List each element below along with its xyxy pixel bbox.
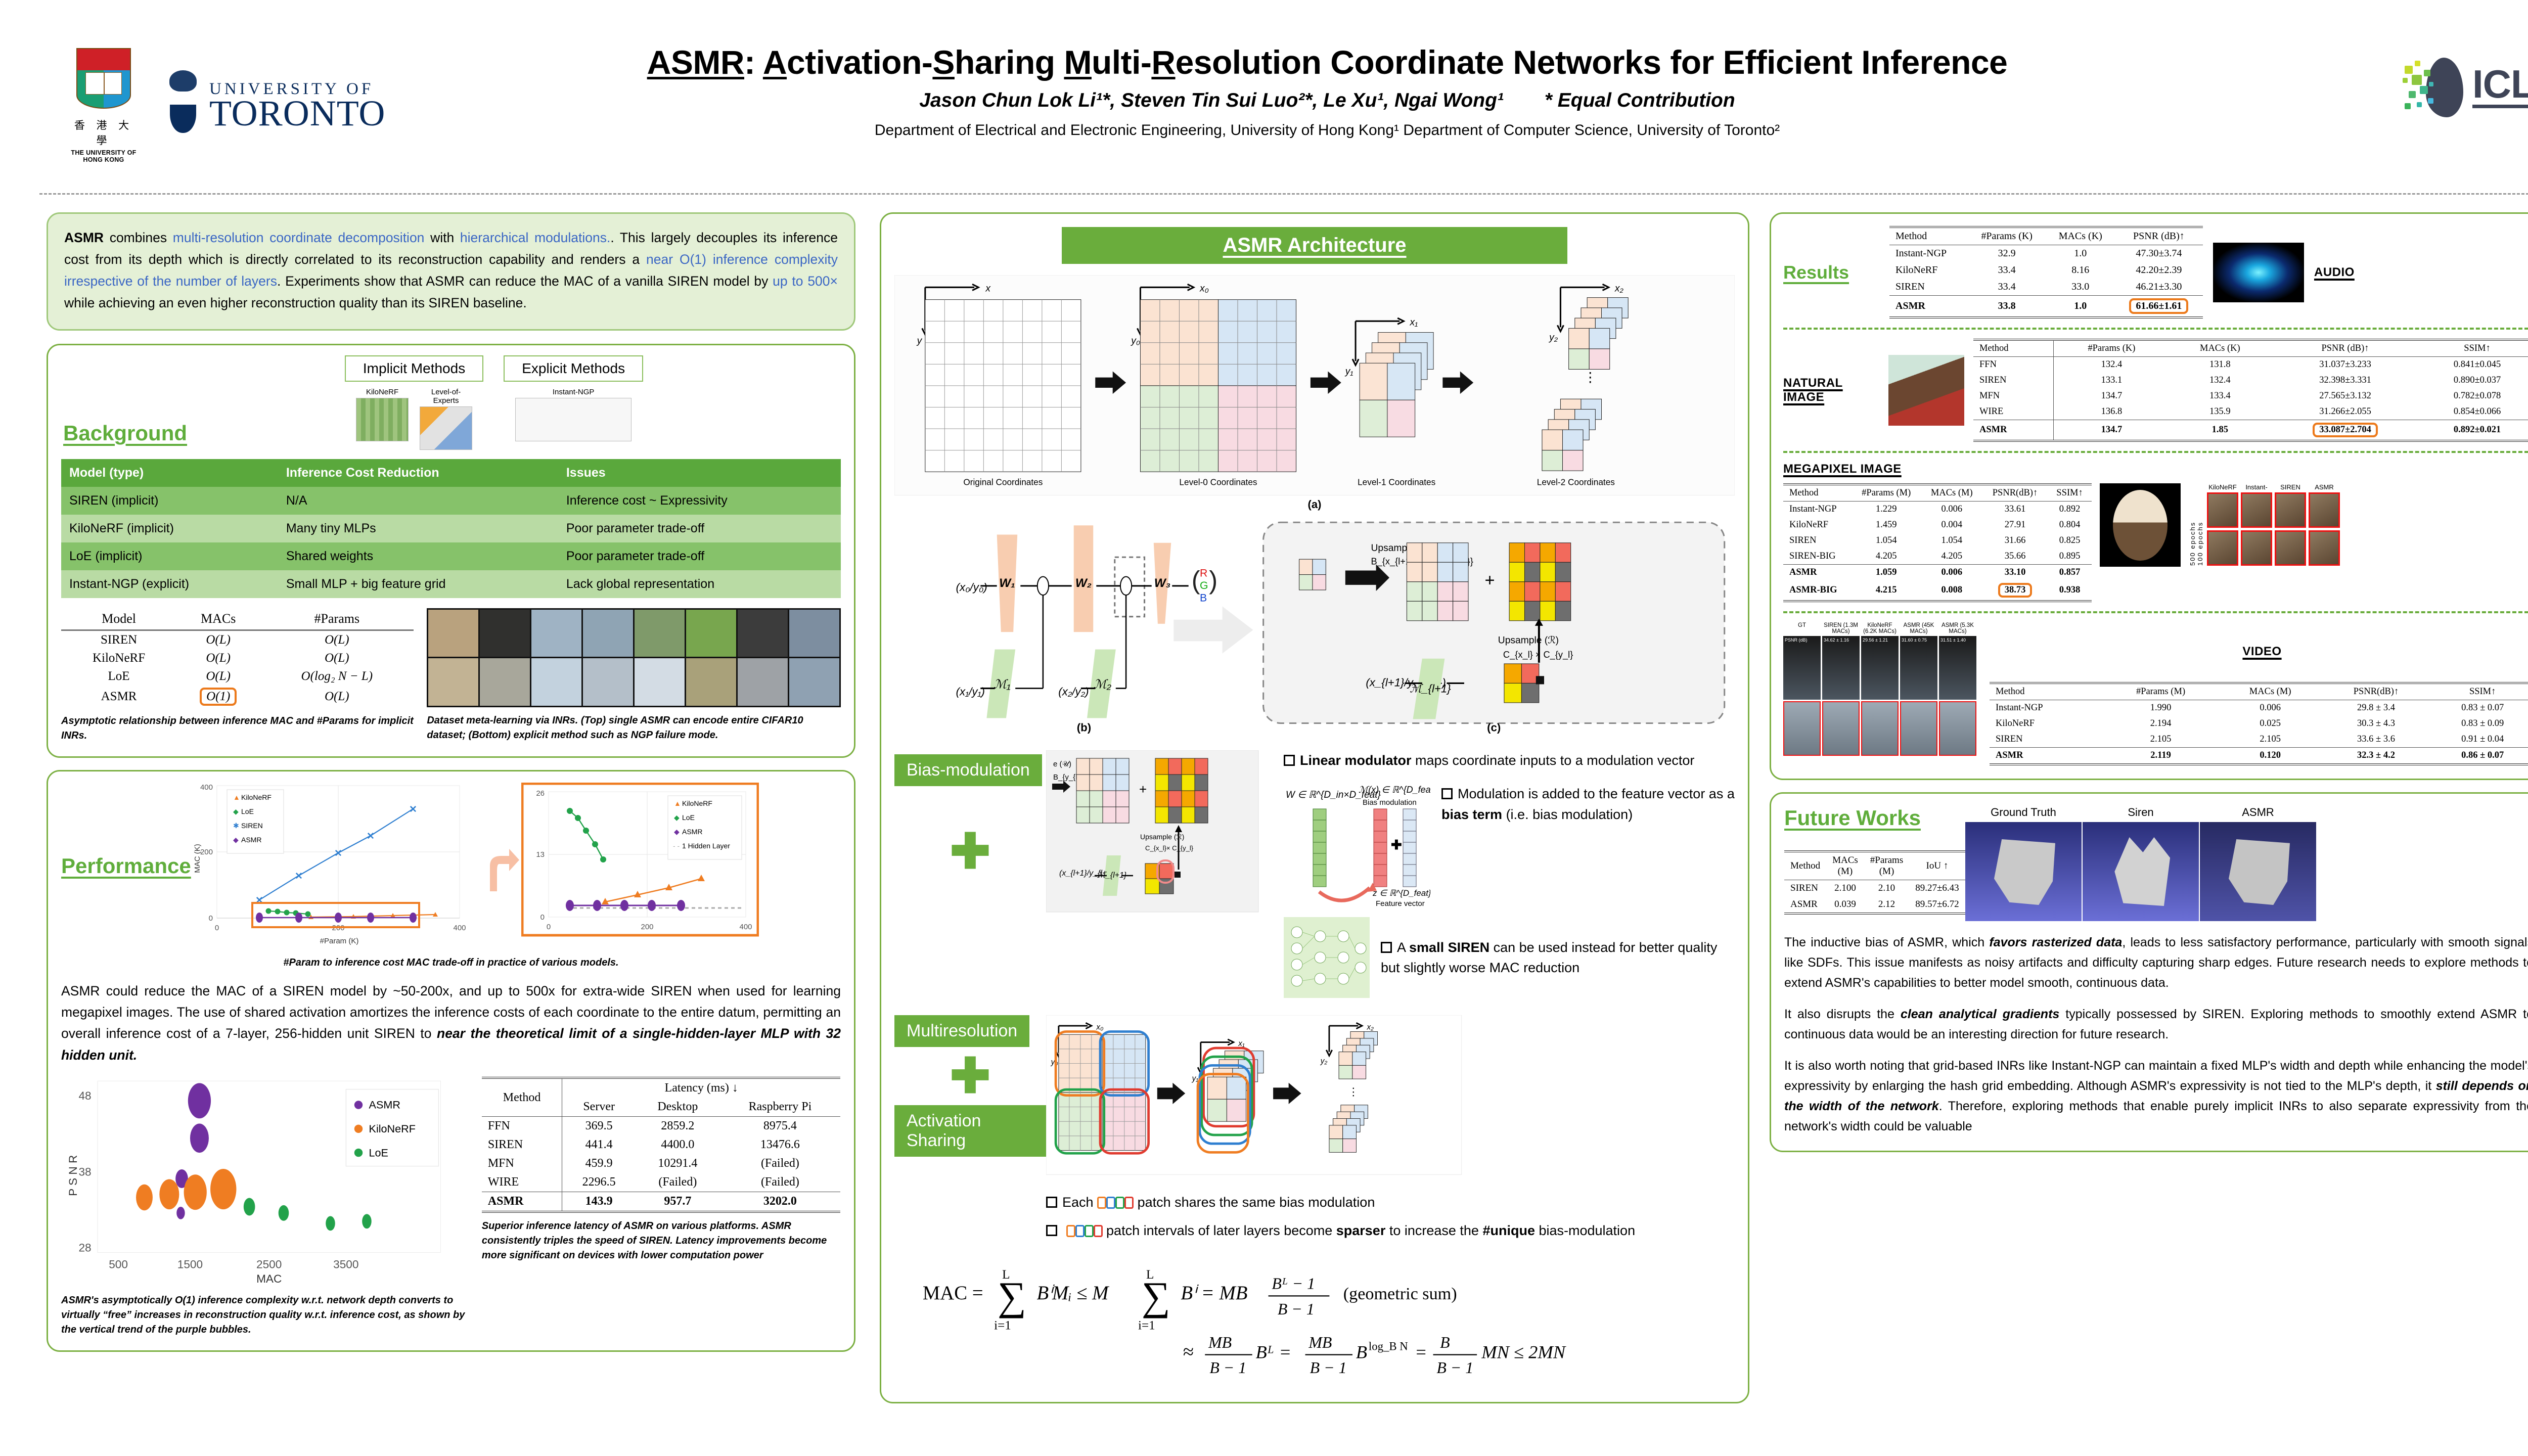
video-zoom-frame <box>1822 701 1860 756</box>
label-bias-modulation: Bias modulation <box>1363 798 1417 807</box>
cell: 10291.4 <box>636 1154 720 1173</box>
cell: 13476.6 <box>720 1135 840 1154</box>
label-z: z ∈ ℝ^{D_feat} <box>1372 888 1430 898</box>
feature-vector-diagram: W ∈ ℝ^{D_in×D_feat} ℳ(x) ∈ ℝ^{D_feat} Bi… <box>1284 784 1430 910</box>
cell: 0.83 ± 0.09 <box>2430 716 2528 732</box>
table-row: SIREN O(L) O(L) <box>61 630 414 649</box>
video-frame: 31.60 ± 0.75 <box>1900 636 1937 700</box>
cell: (Failed) <box>720 1173 840 1192</box>
label-siren: Siren <box>2083 806 2199 819</box>
cell: 0.895 <box>2048 549 2092 565</box>
cell: 1.459 <box>1852 517 1921 533</box>
megapixel-results-row: Method #Params (M) MACs (M) PSNR(dB)↑ SS… <box>1783 483 2528 602</box>
bullet-small-siren: A small SIREN can be used instead for be… <box>1381 937 1735 978</box>
svg-text:y₀: y₀ <box>1051 1058 1059 1066</box>
cell: 0.83 ± 0.07 <box>2430 700 2528 716</box>
svg-text:x₁: x₁ <box>1409 317 1418 328</box>
svg-text:◆: ◆ <box>233 807 239 815</box>
svg-text:LoE: LoE <box>682 813 695 822</box>
cell: 133.4 <box>2170 388 2271 404</box>
mac-equation-svg: MAC = ∑ L i=1 BⁱMᵢ ≤ M ∑ L i=1 Bⁱ = MB B… <box>911 1261 1718 1382</box>
cell: 0.006 <box>2219 700 2322 716</box>
multiresolution-tag: Multiresolution <box>894 1015 1029 1047</box>
cell: Small MLP + big feature grid <box>278 570 558 598</box>
video-label: VIDEO <box>1990 645 2528 659</box>
cell: WIRE <box>482 1173 562 1192</box>
bullet3-bold: small SIREN <box>1409 940 1489 955</box>
cell: 1.85 <box>2170 420 2271 441</box>
col-iou: IoU ↑ <box>1909 851 1965 880</box>
cell: KiloNeRF <box>1889 262 1968 279</box>
bias-modulation-bullets: Linear modulator maps coordinate inputs … <box>1269 750 1735 998</box>
table-row: Instant-NGP 1.229 0.006 33.61 0.892 <box>1783 502 2092 518</box>
svg-text:⋮: ⋮ <box>1348 1086 1359 1098</box>
col-label-instant: Instant- <box>2241 483 2272 491</box>
svg-text:200: 200 <box>200 848 213 856</box>
cifar-grid-image <box>427 608 841 707</box>
col-label-kilonerf: KiloNeRF <box>2207 483 2238 491</box>
table-row: WIRE 2296.5 (Failed) (Failed) <box>482 1173 840 1192</box>
svg-text:#Param (K): #Param (K) <box>320 937 359 945</box>
cell: Lack global representation <box>558 570 841 598</box>
label-original-coordinates: Original Coordinates <box>963 477 1043 487</box>
pluto-image <box>2100 483 2181 567</box>
highlighted-value: 61.66±1.61 <box>2129 298 2188 314</box>
cell: 4400.0 <box>636 1135 720 1154</box>
chart-legend: ASMR KiloNeRF LoE <box>346 1089 438 1166</box>
iclr-face-icon <box>2402 55 2463 118</box>
fw-p2-bold: clean analytical gradients <box>1901 1007 2059 1021</box>
thumb-kilonerf-image <box>356 398 409 441</box>
cell: N/A <box>278 487 558 515</box>
svg-text:ℳ₁: ℳ₁ <box>994 677 1011 691</box>
svg-text:- -: - - <box>673 842 680 850</box>
svg-text:W₁: W₁ <box>999 576 1015 590</box>
col-latency-group: Latency (ms) ↓ <box>562 1078 840 1098</box>
cell: LoE (implicit) <box>61 542 278 570</box>
table-row: Instant-NGP 32.9 1.0 47.30±3.74 <box>1889 245 2203 262</box>
svg-text:0: 0 <box>547 923 551 931</box>
asymptotic-caption: Asymptotic relationship between inferenc… <box>61 714 414 743</box>
cell: 1.0 <box>2046 245 2115 262</box>
cell: 133.1 <box>2054 373 2170 388</box>
poster-root: 香 港 大 學 THE UNIVERSITY OF HONG KONG UNIV… <box>0 0 2528 1456</box>
cell: 4.205 <box>1921 549 1982 565</box>
svg-text:y₁: y₁ <box>1192 1074 1199 1083</box>
svg-text:B: B <box>1200 591 1207 604</box>
col-method: Method <box>1784 851 1826 880</box>
cell: FFN <box>1973 357 2054 373</box>
background-figures: Model MACs #Params SIREN O(L) O(L) Ki <box>61 608 841 743</box>
table-header-row: Method Latency (ms) ↓ <box>482 1078 840 1098</box>
thumb-loe-label: Level-of-Experts <box>420 388 472 405</box>
thumb-ngp-image <box>515 398 631 441</box>
bullet-sparser-post: bias-modulation <box>1535 1223 1635 1238</box>
label-M: ℳ(x) ∈ ℝ^{D_feat} <box>1359 785 1430 795</box>
cell: 8.16 <box>2046 262 2115 279</box>
table-row: WIRE 136.8 135.9 31.266±2.055 0.854±0.06… <box>1973 404 2528 420</box>
svg-text:x₀: x₀ <box>1199 283 1209 294</box>
col-params: #Params <box>260 608 414 630</box>
cell: ASMR <box>1889 296 1968 318</box>
architecture-banner: ASMR Architecture <box>1062 227 1567 264</box>
implicit-methods-group: Implicit Methods KiloNeRF Level-of-Exper… <box>345 355 483 450</box>
table-row-highlight: ASMR 143.9 957.7 3202.0 <box>482 1192 840 1212</box>
svg-text:◆: ◆ <box>674 813 680 822</box>
cell: Inference cost ~ Expressivity <box>558 487 841 515</box>
cell: SIREN-BIG <box>1783 549 1852 565</box>
cell: 31.66 <box>1982 533 2048 549</box>
checkbox-icon <box>1284 755 1295 766</box>
iclr-wordmark: ICLR <box>2472 65 2528 108</box>
zoom-arrow-icon <box>486 836 521 896</box>
cell: SIREN <box>1889 279 1968 296</box>
checkbox-icon <box>1381 942 1392 953</box>
title-block: ASMR: Activation-Sharing Multi-Resolutio… <box>435 44 2220 139</box>
cell: SIREN <box>1990 732 2102 748</box>
table-row: SIREN-BIG 4.205 4.205 35.66 0.895 <box>1783 549 2092 565</box>
cell: 33.0 <box>2046 279 2115 296</box>
highlighted-value: 33.087±2.704 <box>2313 423 2378 437</box>
table-row: SIREN (implicit) N/A Inference cost ~ Ex… <box>61 487 841 515</box>
cell: 27.91 <box>1982 517 2048 533</box>
row-label-500: 500 epochs <box>2189 483 2196 566</box>
svg-text:◆: ◆ <box>674 828 680 836</box>
coordinate-decomposition-diagram: x y Orig <box>894 275 1735 495</box>
cell-highlighted: 38.73 <box>1982 580 2048 601</box>
row-label-100: 100 epochs <box>2196 483 2204 566</box>
abstract-t4: with <box>424 230 460 245</box>
future-works-table: Method MACs (M) #Params (M) IoU ↑ SIREN … <box>1784 850 1965 915</box>
cell: ASMR-BIG <box>1783 580 1852 601</box>
audio-waveform-image <box>2213 243 2304 302</box>
svg-text:B − 1: B − 1 <box>1278 1300 1315 1318</box>
svg-text:500: 500 <box>109 1258 128 1271</box>
cell: (Failed) <box>636 1173 720 1192</box>
cell: 31.037±3.233 <box>2271 357 2420 373</box>
svg-text:28: 28 <box>78 1242 91 1254</box>
svg-text:y₂: y₂ <box>1548 333 1558 343</box>
svg-text:✕: ✕ <box>255 895 263 906</box>
cell: 2859.2 <box>636 1117 720 1136</box>
asymptotic-table: Model MACs #Params SIREN O(L) O(L) Ki <box>61 608 414 708</box>
label-level2-coordinates: Level-2 Coordinates <box>1537 477 1615 487</box>
plus-icon-2: ✚ <box>894 1059 1046 1093</box>
bullet-patch-shares: Each patch shares the same bias modulati… <box>1046 1192 1735 1213</box>
svg-text:0: 0 <box>209 914 213 923</box>
svg-text:48: 48 <box>78 1089 91 1102</box>
abstract-hl1: multi-resolution coordinate decompositio… <box>173 230 425 245</box>
cell: 957.7 <box>636 1192 720 1212</box>
megapixel-comparison-grid: 500 epochs 100 epochs KiloNeRF Instant- … <box>2189 483 2355 566</box>
performance-body: ASMR could reduce the MAC of a SIREN mod… <box>61 980 841 1066</box>
cell: ASMR <box>482 1192 562 1212</box>
cell-highlighted: 33.087±2.704 <box>2271 420 2420 441</box>
cell: 33.4 <box>1968 279 2046 296</box>
table-row: FFN 132.4 131.8 31.037±3.233 0.841±0.045 <box>1973 357 2528 373</box>
bullet-unique-bold: #unique <box>1482 1223 1535 1238</box>
hku-english-name: THE UNIVERSITY OF HONG KONG <box>66 149 142 163</box>
svg-text:x₀: x₀ <box>1096 1023 1104 1032</box>
table-row: Instant-NGP 1.990 0.006 29.8 ± 3.4 0.83 … <box>1990 700 2528 716</box>
cell: 33.4 <box>1968 262 2046 279</box>
poster-header: 香 港 大 學 THE UNIVERSITY OF HONG KONG UNIV… <box>0 0 2528 202</box>
bullet2-bold: bias term <box>1441 807 1502 822</box>
cell: 0.825 <box>2048 533 2092 549</box>
multiresolution-block: Multiresolution ✚ Activation Sharing x₀ … <box>894 1015 1735 1249</box>
cell: 136.8 <box>2054 404 2170 420</box>
col-model: Model <box>61 608 176 630</box>
bullet2-pre: Modulation is added to the feature vecto… <box>1458 786 1735 801</box>
thumb-loe-image <box>420 406 472 450</box>
table-row: KiloNeRF O(L) O(L) <box>61 649 414 667</box>
future-works-paragraph-3: It is also worth noting that grid-based … <box>1784 1056 2528 1136</box>
table-row-highlight: ASMR-BIG 4.215 0.008 38.73 0.938 <box>1783 580 2092 601</box>
cell: 131.8 <box>2170 357 2271 373</box>
svg-text:ASMR: ASMR <box>369 1099 400 1111</box>
natural-image-table: Method #Params (K) MACs (K) PSNR (dB)↑ S… <box>1973 339 2528 442</box>
svg-text:B: B <box>1440 1334 1450 1351</box>
table-row-highlight: ASMR 33.8 1.0 61.66±1.61 <box>1889 296 2203 318</box>
table-row-highlight: ASMR 134.7 1.85 33.087±2.704 0.892±0.021 <box>1973 420 2528 441</box>
col-psnr: PSNR (dB)↑ <box>2115 227 2203 245</box>
cell: 1.054 <box>1852 533 1921 549</box>
svg-text:ASMR: ASMR <box>682 828 702 836</box>
table-row: SIREN 1.054 1.054 31.66 0.825 <box>1783 533 2092 549</box>
svg-text:MAC (K): MAC (K) <box>193 844 202 873</box>
svg-text:0: 0 <box>215 924 219 932</box>
highlighted-value: 38.73 <box>1998 583 2033 598</box>
cell: 135.9 <box>2170 404 2271 420</box>
col-method: Method <box>482 1078 562 1117</box>
cell: 0.004 <box>1921 517 1982 533</box>
cell: 143.9 <box>562 1192 636 1212</box>
col-params: #Params (M) <box>1852 484 1921 502</box>
cell: 30.3 ± 4.3 <box>2322 716 2431 732</box>
table-row: KiloNeRF 33.4 8.16 42.20±2.39 <box>1889 262 2203 279</box>
background-card: Implicit Methods KiloNeRF Level-of-Exper… <box>47 344 855 758</box>
table-row: MFN 134.7 133.4 27.565±3.132 0.782±0.078 <box>1973 388 2528 404</box>
abstract-t2: combines <box>104 230 173 245</box>
svg-text:W₂: W₂ <box>1075 576 1092 590</box>
cell: Poor parameter trade-off <box>558 542 841 570</box>
col-macs: MACs (M) <box>1826 851 1864 880</box>
sdf-image-asmr <box>2200 822 2316 921</box>
checkbox-icon <box>1046 1197 1057 1208</box>
cell: ASMR <box>1783 565 1852 581</box>
architecture-card: ASMR Architecture x y <box>880 212 1749 1403</box>
table-row: SIREN 133.1 132.4 32.398±3.331 0.890±0.0… <box>1973 373 2528 388</box>
latency-caption-p1: Superior inference latency of ASMR on va… <box>482 1220 791 1232</box>
cell: 0.857 <box>2048 565 2092 581</box>
table-header-row: Model MACs #Params <box>61 608 414 630</box>
col-macs: MACs <box>176 608 260 630</box>
background-heading-wrap: Background <box>63 421 187 445</box>
future-works-paragraph-1: The inductive bias of ASMR, which favors… <box>1784 932 2528 993</box>
cell: O(L) <box>260 686 414 708</box>
label-level1-coordinates: Level-1 Coordinates <box>1358 477 1435 487</box>
video-table: Method #Params (M) MACs (M) PSNR(dB)↑ SS… <box>1990 682 2528 765</box>
col-macs: MACs (K) <box>2046 227 2115 245</box>
svg-text:LoE: LoE <box>369 1147 388 1159</box>
strip-label-asmr53k: ASMR (5.3K MACs) <box>1939 622 1976 634</box>
future-works-top-row: Future Works Method MACs (M) #Params (M)… <box>1784 806 2528 921</box>
cell: 32.398±3.331 <box>2271 373 2420 388</box>
video-zoom-frame <box>1900 701 1937 756</box>
mac-equation: MAC = ∑ L i=1 BⁱMᵢ ≤ M ∑ L i=1 Bⁱ = MB B… <box>894 1261 1735 1387</box>
activation-sharing-diagram: x₀ y₀ <box>1046 1015 1481 1179</box>
cell: O(L) <box>176 667 260 686</box>
background-comparison-table: Model (type) Inference Cost Reduction Is… <box>61 459 841 598</box>
label-e-u: e (𝒰) <box>1053 760 1071 768</box>
svg-text:B − 1: B − 1 <box>1210 1359 1247 1377</box>
col-params: #Params (K) <box>1968 227 2046 245</box>
hku-shield-icon <box>76 48 131 114</box>
svg-text:✚: ✚ <box>1391 837 1402 852</box>
bullet-bias-term: Modulation is added to the feature vecto… <box>1441 784 1735 825</box>
table-header-row: Method MACs (M) #Params (M) IoU ↑ <box>1784 851 1965 880</box>
cell: 27.565±3.132 <box>2271 388 2420 404</box>
cell: 0.890±0.037 <box>2420 373 2528 388</box>
asymptotic-table-wrap: Model MACs #Params SIREN O(L) O(L) Ki <box>61 608 414 743</box>
svg-text:26: 26 <box>536 789 545 798</box>
video-zoom-frame <box>1939 701 1976 756</box>
svg-text:Bⁱ = MB: Bⁱ = MB <box>1181 1282 1248 1304</box>
abstract-lead: ASMR <box>64 230 104 245</box>
cell: 32.3 ± 4.2 <box>2322 748 2431 765</box>
panel-a-label: (a) <box>894 498 1735 511</box>
svg-text:y₀: y₀ <box>1130 336 1140 346</box>
bullet-sparser-mid: to increase the <box>1385 1223 1482 1238</box>
bullet-patch-sparser: patch intervals of later layers become s… <box>1046 1220 1735 1241</box>
table-row: LoE (implicit) Shared weights Poor param… <box>61 542 841 570</box>
cell: FFN <box>482 1117 562 1136</box>
affiliations: Department of Electrical and Electronic … <box>435 122 2220 139</box>
svg-text:SIREN: SIREN <box>241 822 263 830</box>
col-psnr: PSNR (dB)↑ <box>2271 340 2420 357</box>
video-frame: PSNR (dB) <box>1783 636 1821 700</box>
table-row: KiloNeRF 2.194 0.025 30.3 ± 4.3 0.83 ± 0… <box>1990 716 2528 732</box>
performance-top-row: Performance 400 200 0 0 200 400 #Param (… <box>61 783 841 949</box>
latency-table: Method Latency (ms) ↓ Server Desktop Ras… <box>482 1077 840 1213</box>
cell: 1.990 <box>2102 700 2219 716</box>
table-row: ASMR 1.059 0.006 33.10 0.857 <box>1783 565 2092 581</box>
cell: SIREN <box>482 1135 562 1154</box>
cell: 0.938 <box>2048 580 2092 601</box>
fw-p1-a: The inductive bias of ASMR, which <box>1784 935 1989 949</box>
video-frame: 29.56 ± 1.21 <box>1861 636 1899 700</box>
col-macs: MACs (M) <box>2219 683 2322 700</box>
col-desktop: Desktop <box>636 1098 720 1117</box>
audio-results-row: Results Method #Params (K) MACs (K) PSNR… <box>1783 226 2528 318</box>
cell: ASMR <box>1784 896 1826 914</box>
performance-card: Performance 400 200 0 0 200 400 #Param (… <box>47 770 855 1352</box>
sdf-image-gt <box>1965 822 2082 921</box>
svg-text:MB: MB <box>1208 1334 1232 1351</box>
col-psnr: PSNR(dB)↑ <box>2322 683 2431 700</box>
latency-caption: Superior inference latency of ASMR on va… <box>482 1219 840 1263</box>
cell: 0.892±0.021 <box>2420 420 2528 441</box>
svg-text:ASMR: ASMR <box>241 836 261 844</box>
table-row: SIREN 2.100 2.10 89.27±6.43 <box>1784 880 1965 897</box>
svg-text:38: 38 <box>78 1166 91 1178</box>
cell: O(L) <box>260 630 414 649</box>
svg-text:✕: ✕ <box>409 804 417 815</box>
cell: 0.91 ± 0.04 <box>2430 732 2528 748</box>
abstract-hl2: hierarchical modulations. <box>460 230 610 245</box>
panel-c-label: (c) <box>1487 721 1501 734</box>
video-frame: 34.62 ± 1.16 <box>1822 636 1860 700</box>
explicit-methods-label: Explicit Methods <box>504 355 643 382</box>
cell: 29.8 ± 3.4 <box>2322 700 2431 716</box>
background-heading: Background <box>63 421 187 445</box>
svg-text:B: B <box>1356 1342 1367 1362</box>
natural-image-thumbnail <box>1888 355 1964 426</box>
cell: KiloNeRF <box>61 649 176 667</box>
svg-text:400: 400 <box>200 783 213 792</box>
table-row: SIREN 33.4 33.0 46.21±3.30 <box>1889 279 2203 296</box>
video-results-row: GT SIREN (1.3M MACs) KiloNeRF (6.2K MACs… <box>1783 622 2528 765</box>
abstract-card: ASMR combines multi-resolution coordinat… <box>47 212 855 331</box>
cell: 8975.4 <box>720 1117 840 1136</box>
video-comparison-strips: GT SIREN (1.3M MACs) KiloNeRF (6.2K MACs… <box>1783 622 1976 756</box>
svg-text:(: ( <box>1192 566 1200 595</box>
right-column: Results Method #Params (K) MACs (K) PSNR… <box>1770 212 2528 1152</box>
sdf-comparison-images: Ground Truth Siren ASMR <box>1965 806 2316 921</box>
svg-text:(x₂/y₂): (x₂/y₂) <box>1058 686 1089 698</box>
divider-natural-megapixel <box>1783 451 2528 453</box>
uoft-line2: TORONTO <box>209 97 385 130</box>
svg-text:✱: ✱ <box>233 822 239 830</box>
svg-text:(geometric sum): (geometric sum) <box>1343 1285 1457 1303</box>
svg-text:Bᴸ − 1: Bᴸ − 1 <box>1272 1275 1316 1293</box>
svg-text:MAC: MAC <box>256 1272 282 1285</box>
cell: 0.892 <box>2048 502 2092 518</box>
col-method: Method <box>1783 484 1852 502</box>
video-frame: 31.51 ± 1.40 <box>1939 636 1976 700</box>
svg-text:G: G <box>1200 579 1208 591</box>
future-works-heading: Future Works <box>1784 806 1921 830</box>
cell: SIREN (implicit) <box>61 487 278 515</box>
col-params: #Params (K) <box>2054 340 2170 357</box>
cell: 134.7 <box>2054 420 2170 441</box>
svg-text:(x₁/y₁): (x₁/y₁) <box>956 686 985 698</box>
performance-heading-wrap: Performance <box>61 854 188 878</box>
svg-text:KiloNeRF: KiloNeRF <box>241 793 272 801</box>
bullet1-bold: Linear modulator <box>1300 753 1412 768</box>
cell: O(L) <box>260 649 414 667</box>
table-row: LoE O(L) O(log₂ N − L) <box>61 667 414 686</box>
svg-text:R: R <box>1200 567 1207 579</box>
cell: 2.119 <box>2102 748 2219 765</box>
svg-text:2500: 2500 <box>256 1258 282 1271</box>
cell: 441.4 <box>562 1135 636 1154</box>
cell: 46.21±3.30 <box>2115 279 2203 296</box>
svg-text:MAC =: MAC = <box>923 1282 983 1304</box>
cell: 0.841±0.045 <box>2420 357 2528 373</box>
bullet3-pre: A <box>1397 940 1409 955</box>
svg-text:L: L <box>1002 1268 1010 1282</box>
svg-text:B − 1: B − 1 <box>1310 1359 1347 1377</box>
page-title: ASMR: Activation-Sharing Multi-Resolutio… <box>435 44 2220 80</box>
megapixel-table: Method #Params (M) MACs (M) PSNR(dB)↑ SS… <box>1783 483 2092 602</box>
cell: 369.5 <box>562 1117 636 1136</box>
hku-logo: 香 港 大 學 THE UNIVERSITY OF HONG KONG <box>66 48 142 163</box>
col-label-siren: SIREN <box>2275 483 2306 491</box>
cell: 33.6 ± 3.6 <box>2322 732 2431 748</box>
svg-text:y: y <box>916 336 923 346</box>
cell: 32.9 <box>1968 245 2046 262</box>
